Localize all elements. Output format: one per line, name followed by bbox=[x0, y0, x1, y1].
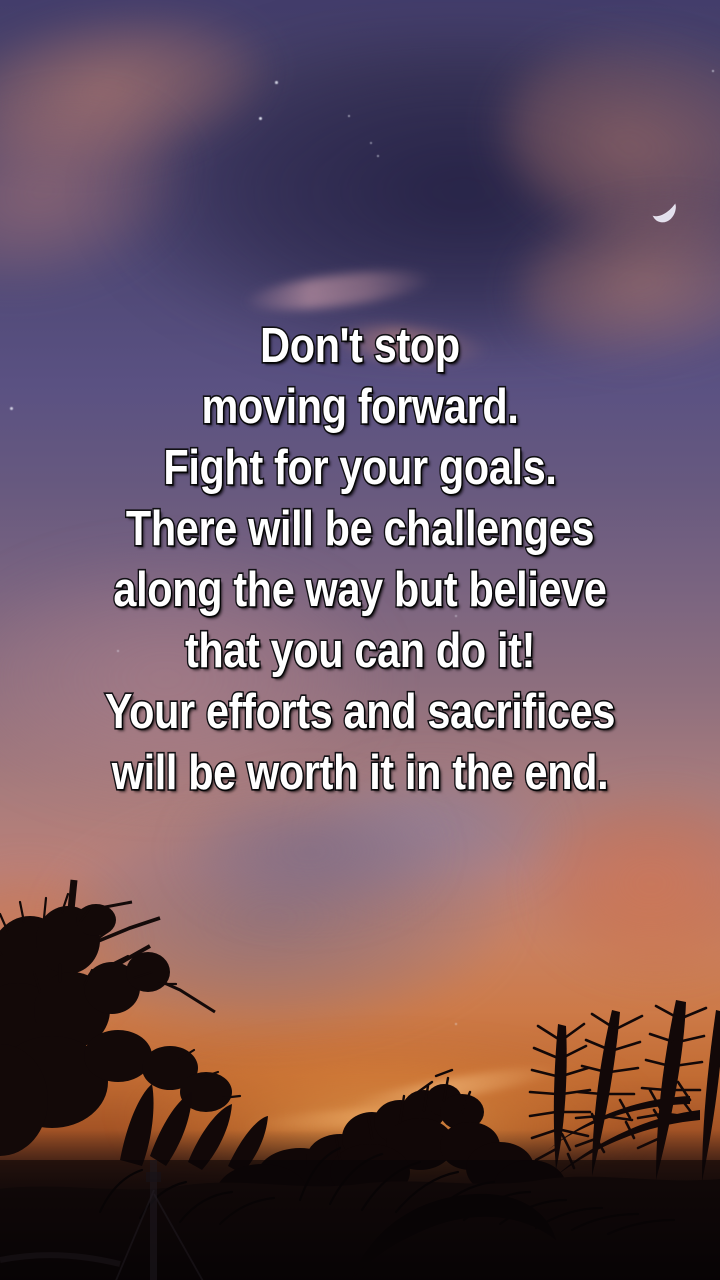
quote-wallpaper-poster: Don't stop moving forward. Fight for you… bbox=[0, 0, 720, 1280]
foreground-base-shadow bbox=[0, 1130, 720, 1280]
quote-line-8: will be worth it in the end. bbox=[56, 743, 664, 804]
star bbox=[377, 155, 379, 157]
quote-line-3: Fight for your goals. bbox=[56, 438, 664, 499]
star bbox=[370, 142, 372, 144]
quote-line-5: along the way but believe bbox=[56, 560, 664, 621]
quote-text-block: Don't stop moving forward. Fight for you… bbox=[0, 316, 720, 804]
star bbox=[275, 81, 278, 84]
quote-line-7: Your efforts and sacrifices bbox=[56, 682, 664, 743]
sky-dark-band bbox=[0, 26, 720, 359]
quote-line-4: There will be challenges bbox=[56, 499, 664, 560]
quote-line-2: moving forward. bbox=[56, 377, 664, 438]
quote-line-1: Don't stop bbox=[56, 316, 664, 377]
star bbox=[348, 115, 350, 117]
quote-line-6: that you can do it! bbox=[56, 621, 664, 682]
